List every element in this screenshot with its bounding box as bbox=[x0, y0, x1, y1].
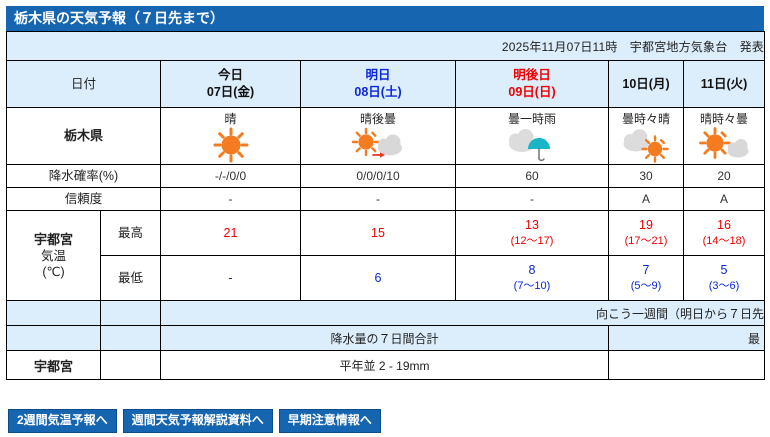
weather-cell-1: 晴後曇 bbox=[301, 108, 456, 165]
reliability-row: 信頼度 - - - A A bbox=[7, 188, 765, 211]
weekly-value-row: 宇都宮 平年並 2 - 19mm bbox=[7, 351, 765, 380]
weekly-sub-right-label: 最 bbox=[609, 326, 765, 351]
date-col-1: 明日 08日(土) bbox=[301, 61, 456, 108]
temp-low-value-1: 6 bbox=[301, 270, 455, 286]
temp-high-value-1: 15 bbox=[301, 225, 455, 241]
weather-cell-0: 晴 bbox=[161, 108, 301, 165]
weather-text-2: 曇一時雨 bbox=[456, 111, 608, 127]
date-header-row: 日付 今日 07日(金) 明日 08日(土) 明後日 09日(日) 10日(月)… bbox=[7, 61, 765, 108]
weather-text-3: 曇時々晴 bbox=[609, 111, 683, 127]
temp-low-cell-0: - bbox=[161, 256, 301, 301]
cloud-sometimes-sun-icon bbox=[610, 127, 682, 163]
day-date-1: 08日(土) bbox=[301, 84, 455, 101]
precipitation-value-4: 20 bbox=[684, 165, 765, 188]
reliability-value-4: A bbox=[684, 188, 765, 211]
sun-sometimes-cloud-icon bbox=[688, 127, 760, 163]
temp-low-label: 最低 bbox=[101, 256, 161, 301]
sun-then-cloud-icon bbox=[342, 127, 414, 163]
day-date-4: 11日(火) bbox=[684, 76, 764, 93]
weather-cell-3: 曇時々晴 bbox=[609, 108, 684, 165]
temp-high-cell-3: 19 (17〜21) bbox=[609, 211, 684, 256]
cloud-rain-umbrella-icon bbox=[496, 127, 568, 163]
weekly-header-row: 向こう一週間（明日から７日先 bbox=[7, 301, 765, 326]
day-date-0: 07日(金) bbox=[161, 84, 300, 101]
temp-high-label: 最高 bbox=[101, 211, 161, 256]
weather-cell-2: 曇一時雨 bbox=[456, 108, 609, 165]
two-week-temp-forecast-button[interactable]: 2週間気温予報へ bbox=[8, 409, 117, 433]
temp-high-value-0: 21 bbox=[161, 225, 300, 241]
temp-low-cell-3: 7 (5〜9) bbox=[609, 256, 684, 301]
temp-low-range-2: (7〜10) bbox=[456, 278, 608, 294]
reliability-value-3: A bbox=[609, 188, 684, 211]
temp-low-value-3: 7 bbox=[609, 262, 683, 278]
precipitation-value-0: -/-/0/0 bbox=[161, 165, 301, 188]
precipitation-label: 降水確率(%) bbox=[7, 165, 161, 188]
weekly-spacer-mid bbox=[101, 301, 161, 326]
temp-low-cell-2: 8 (7〜10) bbox=[456, 256, 609, 301]
temp-unit-line1: 気温 bbox=[7, 248, 100, 264]
temp-low-range-3: (5〜9) bbox=[609, 278, 683, 294]
weekly-sub-spacer-left bbox=[7, 326, 101, 351]
temp-low-value-2: 8 bbox=[456, 262, 608, 278]
temp-high-range-2: (12〜17) bbox=[456, 233, 608, 249]
weather-text-1: 晴後曇 bbox=[301, 111, 455, 127]
temp-low-cell-4: 5 (3〜6) bbox=[684, 256, 765, 301]
reliability-value-2: - bbox=[456, 188, 609, 211]
precipitation-value-1: 0/0/0/10 bbox=[301, 165, 456, 188]
weekly-city-label: 宇都宮 bbox=[7, 351, 101, 380]
area-label: 栃木県 bbox=[7, 108, 161, 165]
weekly-rain-value: 平年並 2 - 19mm bbox=[161, 351, 609, 380]
reliability-value-0: - bbox=[161, 188, 301, 211]
weather-forecast-page: 栃木県の天気予報（７日先まで） 2025年11月07日11時 宇都宮地方気象台 … bbox=[0, 0, 770, 437]
temp-high-cell-1: 15 bbox=[301, 211, 456, 256]
temp-high-row: 宇都宮 気温 (℃) 最高 21 15 13 (12〜17) 19 (17〜21… bbox=[7, 211, 765, 256]
announcement-row: 2025年11月07日11時 宇都宮地方気象台 発表 bbox=[7, 32, 765, 61]
temp-high-value-2: 13 bbox=[456, 217, 608, 233]
day-label-0: 今日 bbox=[161, 67, 300, 84]
sun-icon bbox=[195, 127, 267, 163]
weekly-header-text: 向こう一週間（明日から７日先 bbox=[161, 301, 765, 326]
temp-low-value-0: - bbox=[161, 270, 300, 286]
temp-high-value-3: 19 bbox=[609, 217, 683, 233]
date-col-2: 明後日 09日(日) bbox=[456, 61, 609, 108]
temp-low-cell-1: 6 bbox=[301, 256, 456, 301]
announcement-text: 2025年11月07日11時 宇都宮地方気象台 発表 bbox=[7, 32, 765, 61]
weather-text-4: 晴時々曇 bbox=[684, 111, 764, 127]
temp-city-name: 宇都宮 bbox=[7, 232, 100, 248]
weather-text-0: 晴 bbox=[161, 111, 300, 127]
day-label-1: 明日 bbox=[301, 67, 455, 84]
weather-cell-4: 晴時々曇 bbox=[684, 108, 765, 165]
temp-high-cell-4: 16 (14〜18) bbox=[684, 211, 765, 256]
date-col-0: 今日 07日(金) bbox=[161, 61, 301, 108]
temp-unit-line2: (℃) bbox=[7, 264, 100, 280]
temp-low-value-4: 5 bbox=[684, 262, 764, 278]
precipitation-value-3: 30 bbox=[609, 165, 684, 188]
date-label: 日付 bbox=[7, 61, 161, 108]
reliability-label: 信頼度 bbox=[7, 188, 161, 211]
forecast-table: 2025年11月07日11時 宇都宮地方気象台 発表 日付 今日 07日(金) … bbox=[6, 31, 765, 380]
weekly-rain-label: 降水量の７日間合計 bbox=[161, 326, 609, 351]
weekly-value-spacer bbox=[101, 351, 161, 380]
temp-high-value-4: 16 bbox=[684, 217, 764, 233]
day-date-2: 09日(日) bbox=[456, 84, 608, 101]
precipitation-value-2: 60 bbox=[456, 165, 609, 188]
temp-city-label: 宇都宮 気温 (℃) bbox=[7, 211, 101, 301]
early-warning-info-button[interactable]: 早期注意情報へ bbox=[279, 409, 381, 433]
precipitation-row: 降水確率(%) -/-/0/0 0/0/0/10 60 30 20 bbox=[7, 165, 765, 188]
temp-high-range-3: (17〜21) bbox=[609, 233, 683, 249]
temp-low-range-4: (3〜6) bbox=[684, 278, 764, 294]
weekly-right-value bbox=[609, 351, 765, 380]
weekly-spacer-left bbox=[7, 301, 101, 326]
reliability-value-1: - bbox=[301, 188, 456, 211]
day-label-2: 明後日 bbox=[456, 67, 608, 84]
temp-low-row: 最低 - 6 8 (7〜10) 7 (5〜9) 5 (3〜6) bbox=[7, 256, 765, 301]
weekly-sub-spacer-mid bbox=[101, 326, 161, 351]
bottom-button-bar: 2週間気温予報へ 週間天気予報解説資料へ 早期注意情報へ bbox=[8, 409, 381, 433]
page-title: 栃木県の天気予報（７日先まで） bbox=[6, 6, 764, 31]
date-col-4: 11日(火) bbox=[684, 61, 765, 108]
weekly-subheader-row: 降水量の７日間合計 最 bbox=[7, 326, 765, 351]
weather-row: 栃木県 晴 bbox=[7, 108, 765, 165]
temp-high-cell-0: 21 bbox=[161, 211, 301, 256]
temp-high-range-4: (14〜18) bbox=[684, 233, 764, 249]
date-col-3: 10日(月) bbox=[609, 61, 684, 108]
day-date-3: 10日(月) bbox=[609, 76, 683, 93]
temp-high-cell-2: 13 (12〜17) bbox=[456, 211, 609, 256]
weekly-forecast-commentary-button[interactable]: 週間天気予報解説資料へ bbox=[123, 409, 273, 433]
